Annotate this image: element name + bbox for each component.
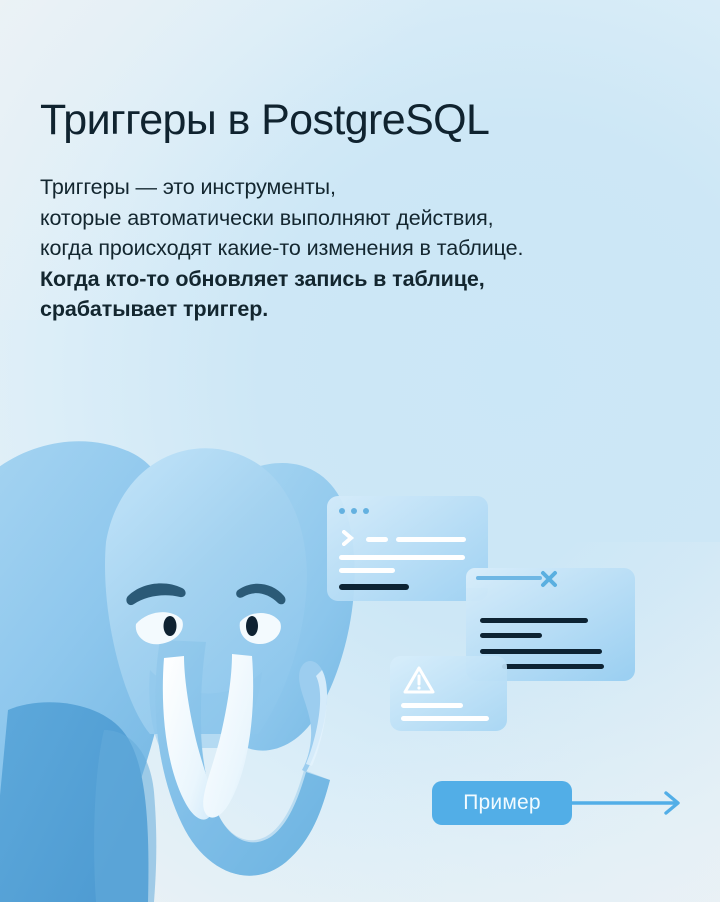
chevron-prompt-icon — [342, 530, 360, 546]
dialog-text-line — [480, 633, 542, 638]
terminal-card[interactable] — [327, 496, 488, 601]
page-title: Триггеры в PostgreSQL — [40, 96, 680, 144]
window-dot-icon — [339, 508, 345, 514]
text-block: Триггеры в PostgreSQL Триггеры — это инс… — [40, 96, 680, 325]
example-button[interactable]: Пример — [432, 781, 572, 825]
code-line — [339, 555, 465, 560]
window-dot-icon — [363, 508, 369, 514]
arrow-right-icon — [572, 789, 688, 817]
elephant-pupil-right — [246, 616, 258, 636]
warning-text-line — [401, 703, 463, 708]
code-line — [339, 568, 395, 573]
code-line — [396, 537, 466, 542]
dialog-title-line — [476, 576, 542, 580]
dialog-text-line — [480, 649, 602, 654]
slide-canvas: Триггеры в PostgreSQL Триггеры — это инс… — [0, 0, 720, 902]
body-line: Когда кто-то обновляет запись в таблице, — [40, 264, 680, 295]
window-dot-icon — [351, 508, 357, 514]
dialog-text-line — [502, 664, 604, 669]
warning-text-line — [401, 716, 489, 721]
body-line: которые автоматически выполняют действия… — [40, 203, 680, 234]
dialog-text-line — [480, 618, 588, 623]
code-line — [366, 537, 388, 542]
body-line: срабатывает триггер. — [40, 294, 680, 325]
body-line: когда происходят какие-то изменения в та… — [40, 233, 680, 264]
code-line-highlight — [339, 584, 409, 590]
close-x-icon[interactable] — [539, 569, 559, 589]
postgresql-elephant-illustration — [0, 400, 420, 902]
elephant-pupil-left — [164, 616, 177, 636]
warning-card[interactable] — [390, 656, 507, 731]
warning-triangle-icon — [402, 665, 436, 695]
body-paragraph: Триггеры — это инструменты, которые авто… — [40, 172, 680, 325]
body-line: Триггеры — это инструменты, — [40, 172, 680, 203]
